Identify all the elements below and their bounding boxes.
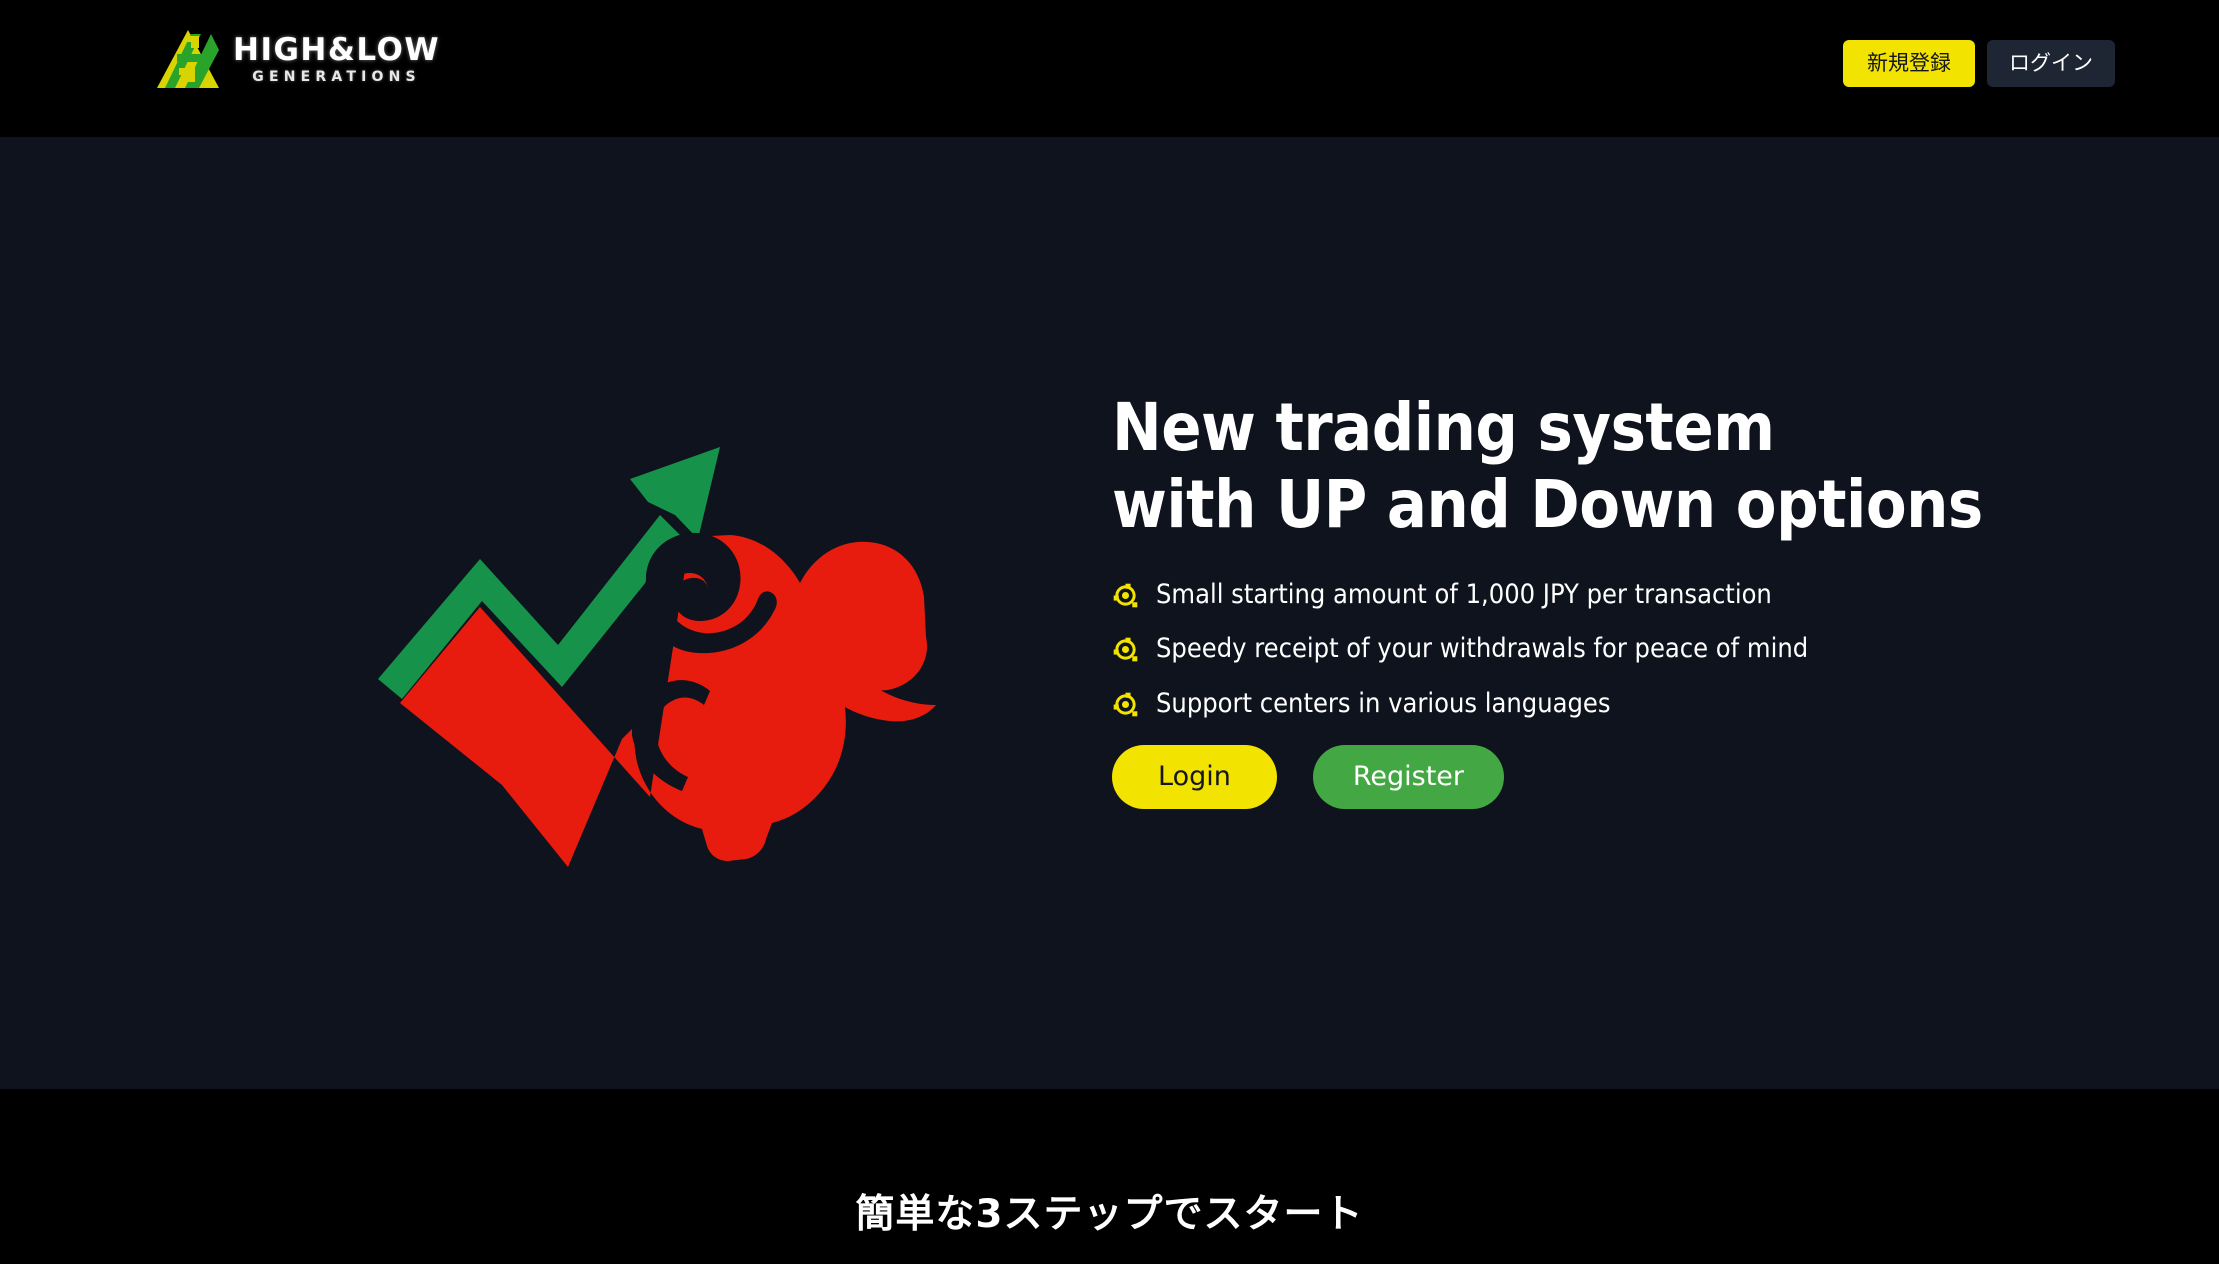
header-register-button[interactable]: 新規登録 xyxy=(1843,40,1975,87)
header-login-button[interactable]: ログイン xyxy=(1987,40,2115,87)
steps-heading: 簡単な3ステップでスタート xyxy=(0,1183,2219,1239)
highlow-monogram-icon xyxy=(155,28,221,90)
header-actions: 新規登録 ログイン xyxy=(1843,40,2115,87)
brand-subtitle: GENERATIONS xyxy=(233,70,440,84)
steps-section: 簡単な3ステップでスタート xyxy=(0,1089,2219,1264)
list-item: Speedy receipt of your withdrawals for p… xyxy=(1112,633,2072,665)
list-item: Support centers in various languages xyxy=(1112,688,2072,720)
brand-logo[interactable]: HIGH&LOW GENERATIONS xyxy=(155,28,440,90)
site-header: HIGH&LOW GENERATIONS 新規登録 ログイン xyxy=(0,0,2219,137)
list-item: Small starting amount of 1,000 JPY per t… xyxy=(1112,579,2072,611)
feature-text: Speedy receipt of your withdrawals for p… xyxy=(1156,633,1808,665)
hero-feature-list: Small starting amount of 1,000 JPY per t… xyxy=(1112,579,2072,720)
spiral-bullet-icon xyxy=(1112,582,1139,609)
brand-title: HIGH&LOW xyxy=(233,35,440,66)
hero-headline: New trading system with UP and Down opti… xyxy=(1112,390,2072,543)
spiral-bullet-icon xyxy=(1112,691,1139,718)
hero-copy: New trading system with UP and Down opti… xyxy=(1112,390,2072,809)
feature-text: Support centers in various languages xyxy=(1156,688,1611,720)
hero-login-button[interactable]: Login xyxy=(1112,745,1277,809)
feature-text: Small starting amount of 1,000 JPY per t… xyxy=(1156,579,1772,611)
hero-register-button[interactable]: Register xyxy=(1313,745,1504,809)
spiral-bullet-icon xyxy=(1112,636,1139,663)
bull-with-rising-arrow-illustration xyxy=(330,387,950,907)
hero-section: New trading system with UP and Down opti… xyxy=(0,137,2219,1089)
hero-cta-group: Login Register xyxy=(1112,745,2072,809)
